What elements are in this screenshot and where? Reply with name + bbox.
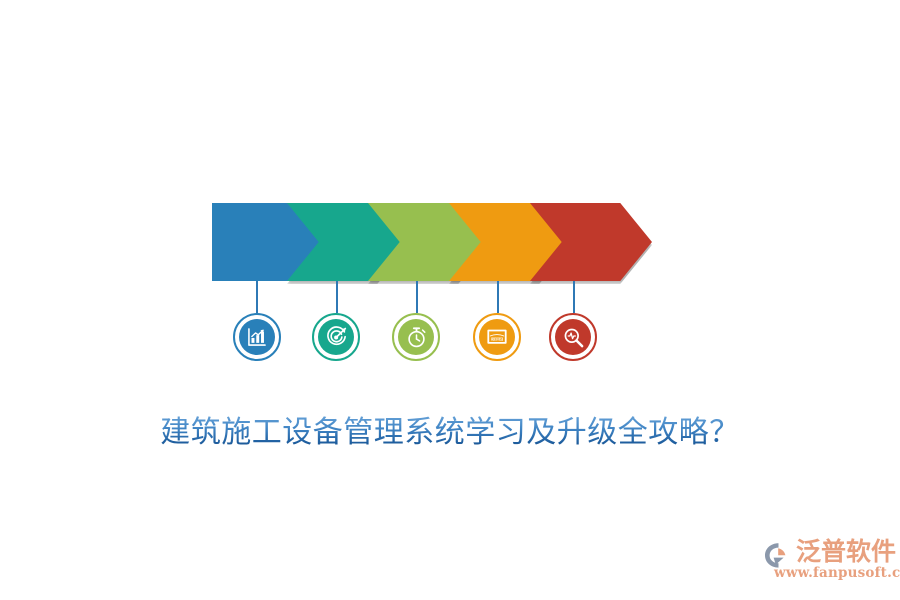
presentation-board-inner-label: 泛普软件 [491,336,503,341]
target-dartboard-icon [325,326,348,349]
step-icon-node-3[interactable] [392,313,440,361]
step-icon-core-5 [555,319,591,355]
connector-stem-1 [256,281,258,313]
brand-url: www.fanpusoft.com [774,565,900,581]
process-chevron-band [212,203,657,281]
step-icon-node-2[interactable] [312,313,360,361]
step-icon-core-1 [239,319,275,355]
step-icon-core-3 [398,319,434,355]
connector-stem-4 [497,281,499,313]
connector-stem-3 [416,281,418,313]
bar-chart-growth-icon [246,326,268,348]
presentation-board-icon: 泛普软件 [485,325,509,349]
brand-logo[interactable]: 泛普软件 www.fanpusoft.com [762,536,892,584]
step-icon-node-1[interactable] [233,313,281,361]
stopwatch-icon [405,326,428,349]
step-icon-core-2 [318,319,354,355]
step-icon-node-5[interactable] [549,313,597,361]
brand-name: 泛普软件 [796,536,896,567]
page-title: 建筑施工设备管理系统学习及升级全攻略？ [0,412,900,454]
step-icon-node-4[interactable]: 泛普软件 [473,313,521,361]
connector-stem-2 [336,281,338,313]
step-icon-core-4: 泛普软件 [479,319,515,355]
slide-canvas: 泛普软件 建筑施工设备管理系统学习及升级全攻略？ 泛 [0,0,900,600]
connector-stem-5 [573,281,575,313]
magnifier-analytics-icon [562,326,585,349]
